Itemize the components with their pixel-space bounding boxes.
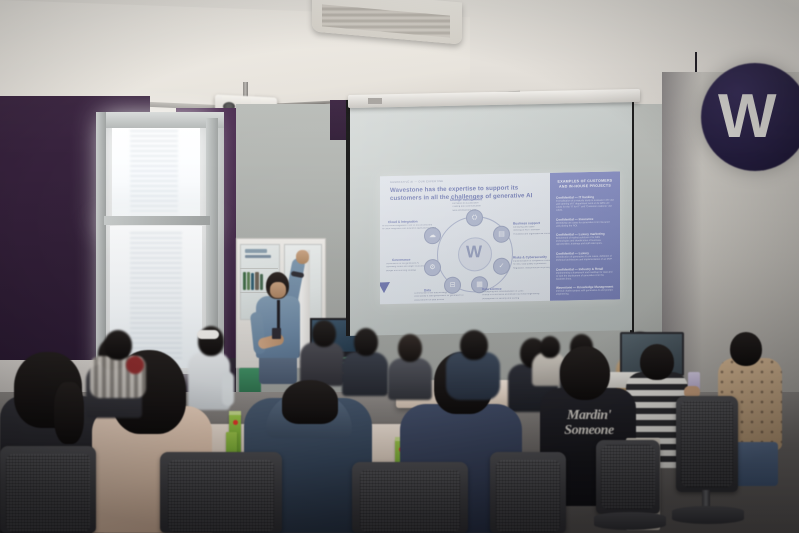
- attendee-arm: [222, 372, 234, 406]
- attendee-head: [460, 330, 488, 360]
- beverage-carton-top: [229, 411, 241, 415]
- shelf-divider-1: [240, 268, 278, 269]
- projection-screen: GENERATIVE AI — OUR EXPERTISE Wavestone …: [350, 97, 632, 336]
- book: [255, 272, 259, 290]
- office-chair-mesh: [6, 454, 90, 532]
- book: [243, 272, 246, 290]
- screen-bracket: [368, 98, 382, 104]
- book: [247, 272, 250, 290]
- presenter-hand: [296, 250, 309, 264]
- attendee-head: [640, 344, 674, 380]
- beverage-carton-logo: [233, 420, 238, 425]
- exterior-tower-upper: [130, 130, 178, 216]
- attendee-hair-strand: [54, 382, 84, 444]
- conference-room-photo: W y GENERATIVE AI — OUR EXPERTISE Wavest…: [0, 0, 799, 533]
- window-transom: [104, 216, 210, 225]
- hair-clip-icon: [126, 356, 144, 374]
- presenter-lanyard: [277, 300, 280, 330]
- tshirt-print-text: Mardin' Someone: [551, 408, 627, 438]
- office-chair-mesh: [496, 460, 560, 532]
- attendee-head: [104, 330, 132, 360]
- office-chair-base: [672, 506, 744, 524]
- attendee-body: [342, 352, 388, 396]
- book: [260, 274, 263, 290]
- exterior-tower-lower: [130, 232, 182, 362]
- presenter-face: [270, 282, 286, 298]
- attendee-body: [388, 358, 432, 400]
- book: [245, 249, 267, 253]
- office-chair-mesh: [601, 445, 655, 509]
- screen-glare: [350, 97, 632, 336]
- window-blind-header: [96, 112, 224, 128]
- presenter-badge: [272, 328, 281, 339]
- window-jamb-left: [96, 112, 106, 374]
- wavestone-logo-letter: W: [718, 86, 798, 148]
- book: [245, 255, 271, 258]
- office-chair-base: [594, 512, 666, 530]
- office-chair-mesh: [681, 401, 733, 487]
- headband-icon: [197, 330, 219, 339]
- office-chair-mesh: [360, 470, 460, 532]
- attendee-head: [398, 334, 422, 362]
- attendee-head: [282, 380, 338, 424]
- attendee-head: [540, 336, 560, 358]
- office-chair-mesh: [168, 460, 274, 532]
- presenter-legs: [259, 354, 297, 384]
- book: [251, 273, 254, 290]
- attendee-head: [730, 332, 762, 366]
- attendee-head: [354, 328, 378, 356]
- attendee-head: [312, 320, 336, 347]
- attendee-head: [560, 346, 610, 400]
